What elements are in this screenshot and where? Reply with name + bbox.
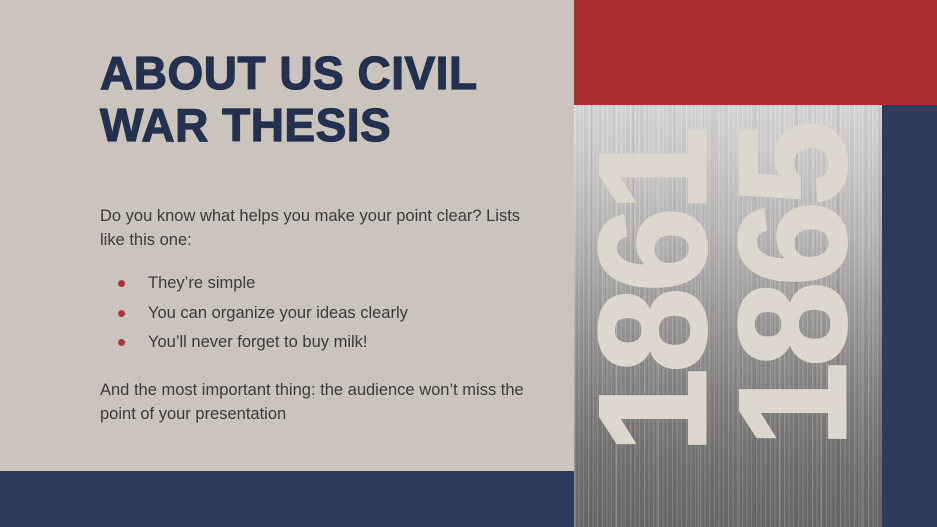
- bullet-dot-icon: [118, 339, 125, 346]
- striped-metal-panel: 1861 1865: [574, 105, 882, 527]
- page-title: About us Civil War Thesis: [100, 0, 530, 151]
- list-item: You’ll never forget to buy milk!: [118, 332, 530, 353]
- bullet-dot-icon: [118, 310, 125, 317]
- outro-paragraph: And the most important thing: the audien…: [100, 362, 530, 427]
- year-start-label: 1861: [584, 131, 724, 453]
- navy-right-column: [882, 105, 937, 527]
- slide-content: About us Civil War Thesis Do you know wh…: [100, 0, 530, 427]
- presentation-slide: 1861 1865 About us Civil War Thesis Do y…: [0, 0, 937, 527]
- list-item-label: You can organize your ideas clearly: [148, 304, 408, 322]
- bullet-dot-icon: [118, 280, 125, 287]
- list-item: They’re simple: [118, 273, 530, 294]
- navy-bottom-bar: [0, 471, 575, 527]
- red-top-block: [574, 0, 937, 106]
- year-end-label: 1865: [724, 125, 864, 447]
- bullet-list: They’re simple You can organize your ide…: [100, 253, 530, 353]
- list-item-label: They’re simple: [148, 274, 255, 292]
- lead-paragraph: Do you know what helps you make your poi…: [100, 151, 530, 253]
- list-item-label: You’ll never forget to buy milk!: [148, 333, 368, 351]
- list-item: You can organize your ideas clearly: [118, 303, 530, 324]
